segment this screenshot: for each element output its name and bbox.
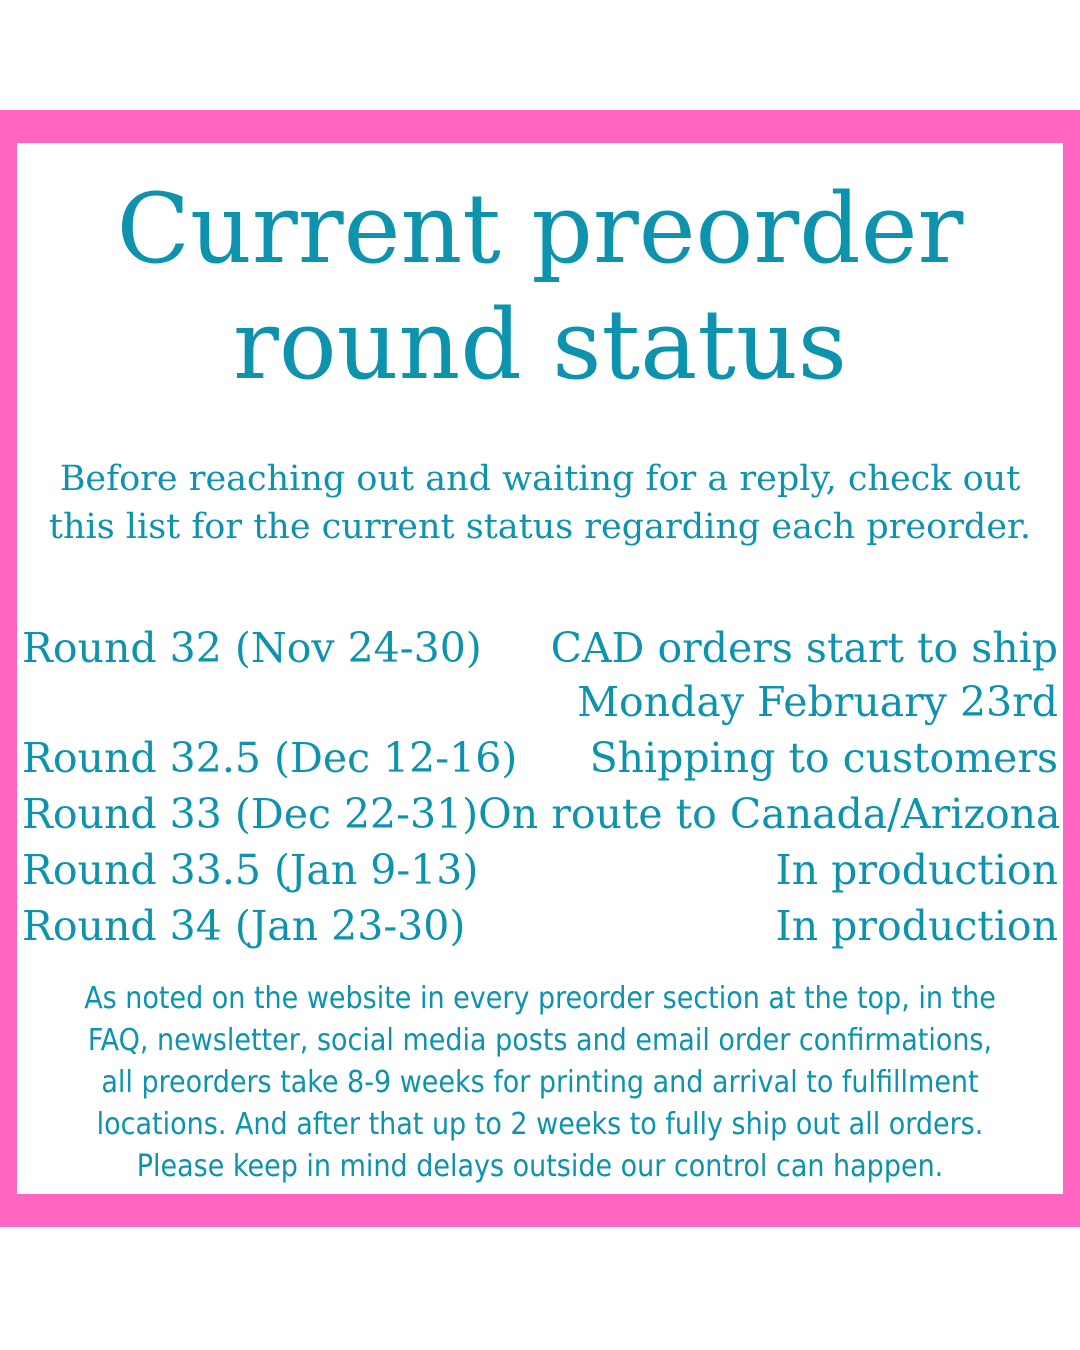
round-status-line-1: In production: [776, 899, 1058, 953]
round-label: Round 33.5 (Jan 9-13): [22, 843, 478, 897]
round-status: In production: [776, 899, 1058, 953]
poster-card: Current preorder round status Before rea…: [17, 143, 1063, 1194]
round-status: On route to Canada/Arizona: [478, 787, 1060, 841]
round-label: Round 33 (Dec 22-31): [22, 787, 478, 841]
round-status-row: Round 32.5 (Dec 12-16) Shipping to custo…: [22, 731, 1058, 785]
round-status: CAD orders start to ship Monday February…: [551, 621, 1058, 729]
subtitle-line-1: Before reaching out and waiting for a re…: [17, 455, 1063, 503]
footer-note-line-2: FAQ, newsletter, social media posts and …: [17, 1020, 1063, 1062]
footer-note-line-5: Please keep in mind delays outside our c…: [17, 1146, 1063, 1188]
round-label: Round 32.5 (Dec 12-16): [22, 731, 517, 785]
round-status-line-1: CAD orders start to ship: [551, 621, 1058, 675]
round-status: Shipping to customers: [590, 731, 1058, 785]
round-status-row: Round 33 (Dec 22-31) On route to Canada/…: [22, 787, 1058, 841]
footer-note-line-4: locations. And after that up to 2 weeks …: [17, 1104, 1063, 1146]
round-label: Round 34 (Jan 23-30): [22, 899, 465, 953]
round-status: In production: [776, 843, 1058, 897]
round-status-line-2: Monday February 23rd: [551, 675, 1058, 729]
page-title: Current preorder round status: [17, 171, 1063, 403]
round-status-line-1: In production: [776, 843, 1058, 897]
page-title-line-1: Current preorder: [17, 171, 1063, 287]
footer-note-line-1: As noted on the website in every preorde…: [17, 978, 1063, 1020]
footer-note: As noted on the website in every preorde…: [17, 978, 1063, 1188]
page-title-line-2: round status: [17, 287, 1063, 403]
preorder-status-poster: Current preorder round status Before rea…: [0, 0, 1080, 1350]
round-status-line-1: On route to Canada/Arizona: [478, 787, 1060, 841]
footer-note-line-3: all preorders take 8-9 weeks for printin…: [17, 1062, 1063, 1104]
round-status-row: Round 33.5 (Jan 9-13) In production: [22, 843, 1058, 897]
round-status-line-1: Shipping to customers: [590, 731, 1058, 785]
round-status-row: Round 34 (Jan 23-30) In production: [22, 899, 1058, 953]
round-status-row: Round 32 (Nov 24-30) CAD orders start to…: [22, 621, 1058, 729]
round-label: Round 32 (Nov 24-30): [22, 621, 482, 675]
subtitle-line-2: this list for the current status regardi…: [17, 503, 1063, 551]
subtitle: Before reaching out and waiting for a re…: [17, 455, 1063, 551]
round-status-list: Round 32 (Nov 24-30) CAD orders start to…: [22, 621, 1058, 955]
